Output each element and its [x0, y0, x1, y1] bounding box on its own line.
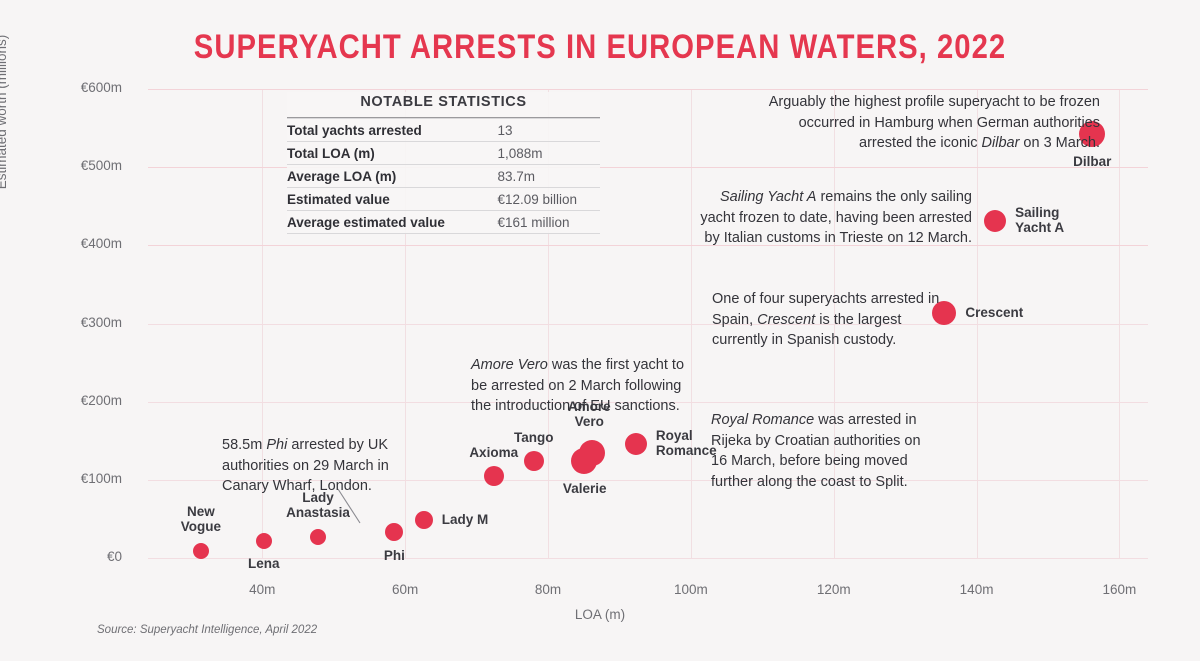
stats-row-key: Average estimated value	[287, 211, 483, 234]
stats-row: Estimated value€12.09 billion	[287, 188, 600, 211]
stats-row-value: 1,088m	[483, 142, 600, 165]
annotation-dilbar: Arguably the highest profile superyacht …	[760, 92, 1100, 154]
annotation-crescent: One of four superyachts arrested in Spai…	[712, 289, 940, 351]
stats-row: Average estimated value€161 million	[287, 211, 600, 234]
annotation-sailing-yacht-a: Sailing Yacht A remains the only sailing…	[700, 187, 972, 249]
annotation-phi: 58.5m Phi arrested by UK authorities on …	[222, 435, 404, 497]
stats-row-key: Total yachts arrested	[287, 119, 483, 142]
stats-row-key: Average LOA (m)	[287, 165, 483, 188]
annotation-royal-romance: Royal Romance was arrested in Rijeka by …	[711, 410, 935, 492]
annotation-amore-vero: Amore Vero was the first yacht to be arr…	[471, 355, 695, 417]
stats-table: Total yachts arrested13Total LOA (m)1,08…	[287, 118, 600, 234]
stats-heading: NOTABLE STATISTICS	[287, 92, 600, 117]
stats-row-value: €161 million	[483, 211, 600, 234]
stats-row-value: 13	[483, 119, 600, 142]
stats-row-key: Total LOA (m)	[287, 142, 483, 165]
stats-row: Total LOA (m)1,088m	[287, 142, 600, 165]
notable-statistics-panel: NOTABLE STATISTICS Total yachts arrested…	[287, 92, 600, 234]
stats-row: Total yachts arrested13	[287, 119, 600, 142]
stats-row-value: €12.09 billion	[483, 188, 600, 211]
source-note: Source: Superyacht Intelligence, April 2…	[97, 624, 317, 636]
infographic-canvas: SUPERYACHT ARRESTS IN EUROPEAN WATERS, 2…	[0, 0, 1200, 661]
stats-row: Average LOA (m)83.7m	[287, 165, 600, 188]
stats-row-value: 83.7m	[483, 165, 600, 188]
stats-row-key: Estimated value	[287, 188, 483, 211]
